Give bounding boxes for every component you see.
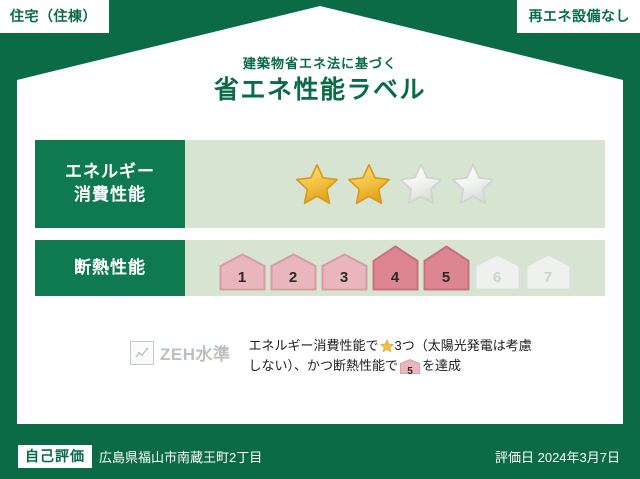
zeh-desc-part-1: エネルギー消費性能で: [249, 338, 379, 353]
zeh-desc-part-2: 3つ（太陽光発電: [395, 338, 493, 353]
zeh-level-label: ZEH水準: [160, 340, 231, 365]
energy-performance-label: エネルギー 消費性能: [35, 140, 185, 228]
inline-star-icon: [380, 339, 394, 353]
title-subtitle: 建築物省エネ法に基づく: [0, 56, 640, 72]
star-filled-icon: [294, 162, 340, 206]
chart-line-icon: [130, 341, 154, 365]
inline-grade-number: 5: [400, 364, 420, 380]
insulation-grade-badge: 6: [474, 253, 521, 291]
assessment-type-badge: 自己評価: [18, 445, 92, 468]
star-rating: [294, 162, 496, 206]
zeh-note-row: ZEH水準 エネルギー消費性能で3つ（太陽光発電は考慮しない）、かつ断熱性能で5…: [35, 336, 605, 380]
insulation-grade-badge: 1: [219, 253, 266, 291]
building-type-tag: 住宅（住棟）: [0, 0, 109, 33]
house-badge-icon: [525, 253, 572, 291]
star-filled-icon: [346, 162, 392, 206]
property-address: 広島県福山市南蔵王町2丁目: [99, 447, 262, 466]
insulation-grade-badge: 4: [372, 245, 419, 291]
renewable-energy-tag: 再エネ設備なし: [517, 0, 640, 33]
evaluation-date: 評価日 2024年3月7日: [495, 447, 620, 466]
house-badge-icon: [474, 253, 521, 291]
insulation-grade-badge: 3: [321, 253, 368, 291]
energy-performance-label: 住宅（住棟） 再エネ設備なし 建築物省エネ法に基づく 省エネ性能ラベル エネルギ…: [0, 0, 640, 479]
energy-performance-value: [185, 140, 605, 228]
insulation-grade-scale: 1234567: [219, 245, 572, 291]
star-empty-icon: [398, 162, 444, 206]
energy-label-line-2: 消費性能: [74, 185, 146, 204]
insulation-grade-badge: 5: [423, 245, 470, 291]
house-badge-icon: [270, 253, 317, 291]
house-badge-icon: [321, 253, 368, 291]
house-badge-icon: [372, 245, 419, 291]
inline-grade-badge: 5: [400, 359, 420, 380]
insulation-performance-row: 断熱性能 1234567: [35, 240, 605, 296]
energy-performance-row: エネルギー 消費性能: [35, 140, 605, 228]
label-title-block: 建築物省エネ法に基づく 省エネ性能ラベル: [0, 56, 640, 106]
insulation-performance-value: 1234567: [185, 240, 605, 296]
house-badge-icon: [423, 245, 470, 291]
house-badge-icon: [219, 253, 266, 291]
insulation-grade-badge: 2: [270, 253, 317, 291]
zeh-mark: ZEH水準: [130, 340, 231, 365]
insulation-grade-badge: 7: [525, 253, 572, 291]
insulation-performance-label: 断熱性能: [35, 240, 185, 296]
energy-label-line-1: エネルギー: [65, 162, 155, 181]
title-main: 省エネ性能ラベル: [0, 75, 640, 106]
label-footer: 自己評価 広島県福山市南蔵王町2丁目 評価日 2024年3月7日: [0, 441, 640, 471]
zeh-description: エネルギー消費性能で3つ（太陽光発電は考慮しない）、かつ断熱性能で5を達成: [249, 336, 539, 380]
star-empty-icon: [450, 162, 496, 206]
zeh-desc-part-4: を達成: [422, 358, 461, 373]
